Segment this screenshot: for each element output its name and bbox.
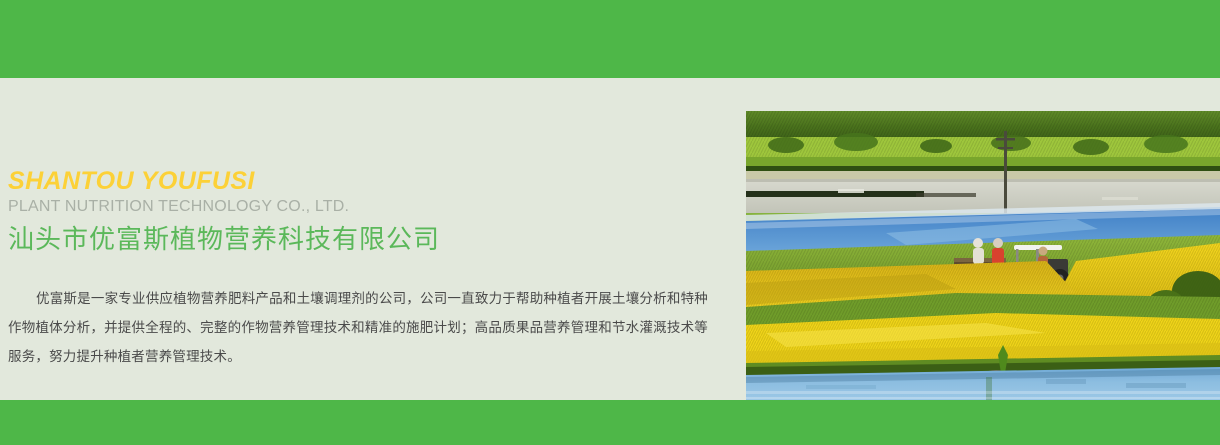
top-green-band [0,0,1220,78]
company-name-english: SHANTOU YOUFUSI [8,166,718,196]
company-name-chinese: 汕头市优富斯植物营养科技有限公司 [8,222,718,256]
company-identity-block: SHANTOU YOUFUSI PLANT NUTRITION TECHNOLO… [8,166,718,371]
content-canvas: SHANTOU YOUFUSI PLANT NUTRITION TECHNOLO… [0,78,1220,400]
rice-paddy-photo [746,111,1220,400]
company-subtitle-english: PLANT NUTRITION TECHNOLOGY CO., LTD. [8,196,718,218]
company-introduction-paragraph: 优富斯是一家专业供应植物营养肥料产品和土壤调理剂的公司，公司一直致力于帮助种植者… [8,284,708,371]
bottom-green-band [0,400,1220,445]
